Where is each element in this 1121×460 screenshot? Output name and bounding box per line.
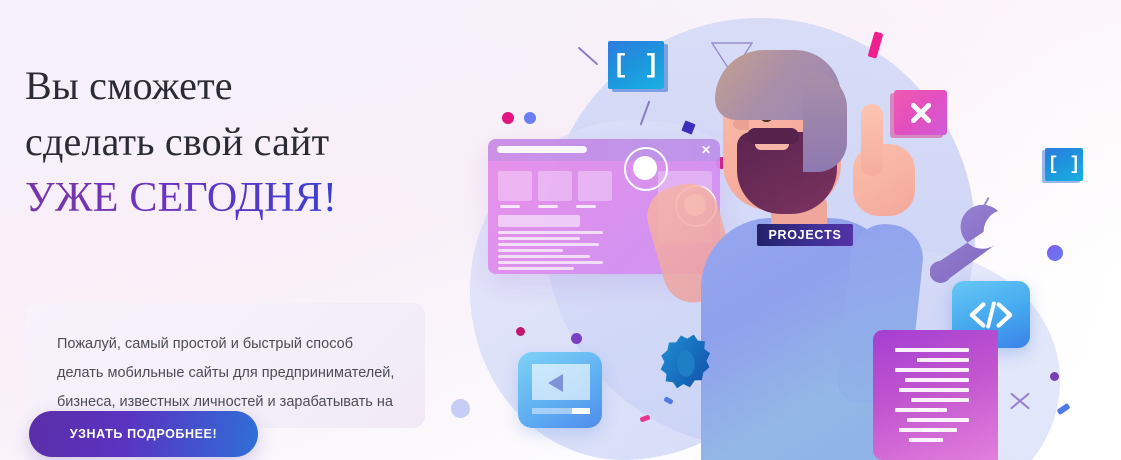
deco-dash-blue-bottom — [1056, 403, 1070, 415]
browser-text-lines — [498, 231, 603, 273]
browser-tile-captions — [500, 205, 596, 208]
deco-dot-violet-player — [571, 333, 582, 344]
learn-more-button[interactable]: УЗНАТЬ ПОДРОБНЕЕ! — [29, 411, 258, 457]
deco-dot-purple-small — [1050, 372, 1059, 381]
headline-line-3-highlight: УЖЕ СЕГОДНЯ! — [25, 170, 337, 226]
browser-tile — [578, 171, 612, 201]
hero-copy: Вы сможете сделать свой сайт УЖЕ СЕГОДНЯ… — [25, 58, 445, 226]
headline-line-2: сделать свой сайт — [25, 114, 445, 170]
touch-point-icon-1 — [624, 147, 668, 191]
browser-tile — [498, 171, 532, 201]
bracket-icon: [ ] — [613, 50, 660, 80]
bracket-card-small[interactable]: [ ] — [1045, 148, 1083, 181]
play-icon[interactable] — [548, 374, 563, 392]
player-progress-bar[interactable] — [532, 408, 590, 414]
browser-heading-block — [498, 215, 580, 227]
page-title: Вы сможете сделать свой сайт УЖЕ СЕГОДНЯ… — [25, 58, 445, 226]
character-pointing-finger — [861, 104, 883, 176]
gear-icon — [658, 330, 722, 394]
media-player-card[interactable] — [518, 352, 602, 428]
bracket-card-large[interactable]: [ ] — [608, 41, 664, 89]
deco-line-purple-topleft — [578, 47, 599, 66]
shirt-badge: PROJECTS — [757, 224, 853, 246]
deco-dot-violet-right — [1047, 245, 1063, 261]
deco-dot-pink — [502, 112, 514, 124]
browser-tile — [538, 171, 572, 201]
deco-dot-lavender-left — [451, 399, 470, 418]
wrench-icon — [930, 198, 1004, 302]
close-card[interactable] — [894, 90, 947, 135]
hero-illustration: ✕ — [430, 0, 1121, 460]
deco-dot-blue — [524, 112, 536, 124]
hero-section: Вы сможете сделать свой сайт УЖЕ СЕГОДНЯ… — [0, 0, 1121, 460]
code-panel — [873, 330, 998, 460]
description-card: Пожалуй, самый простой и быстрый способ … — [25, 303, 425, 428]
deco-dot-crimson — [516, 327, 525, 336]
headline-line-1: Вы сможете — [25, 58, 445, 114]
browser-url-bar[interactable] — [497, 146, 587, 153]
character-hair-side — [803, 72, 847, 172]
character-moustache — [747, 128, 799, 144]
close-icon — [908, 100, 934, 126]
browser-card-tiles — [498, 171, 612, 201]
code-icon — [968, 299, 1014, 331]
bracket-icon: [ ] — [1048, 155, 1080, 175]
